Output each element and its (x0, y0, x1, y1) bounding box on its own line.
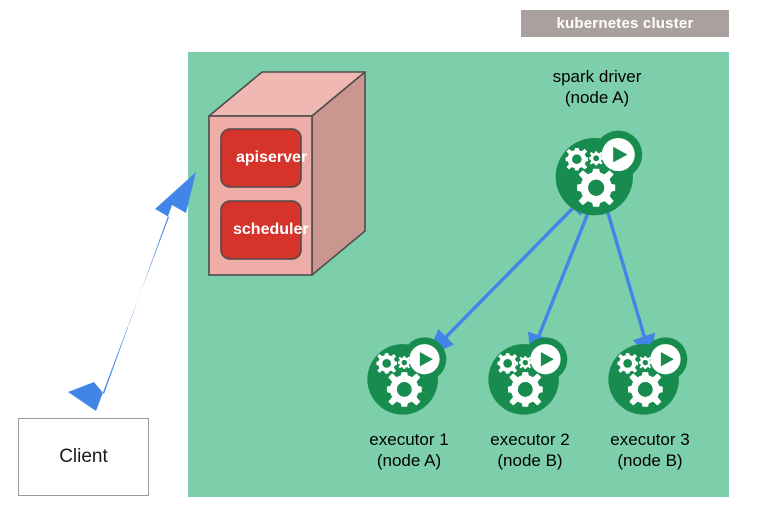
diagram-canvas: kubernetes cluster apiserver scheduler s… (0, 0, 761, 516)
kubernetes-cluster-badge: kubernetes cluster (521, 10, 729, 37)
client-box[interactable]: Client (18, 418, 149, 496)
executor-3-node: (node B) (572, 450, 728, 471)
control-plane-cube (209, 72, 365, 275)
spark-driver-name: spark driver (519, 66, 675, 87)
spark-driver-label: spark driver (node A) (519, 66, 675, 108)
scheduler-label: scheduler (233, 221, 309, 239)
spark-driver-node: (node A) (519, 87, 675, 108)
executor-3-name: executor 3 (572, 429, 728, 450)
executor-3-label: executor 3 (node B) (572, 429, 728, 471)
apiserver-label: apiserver (236, 149, 307, 167)
client-label: Client (59, 446, 108, 468)
